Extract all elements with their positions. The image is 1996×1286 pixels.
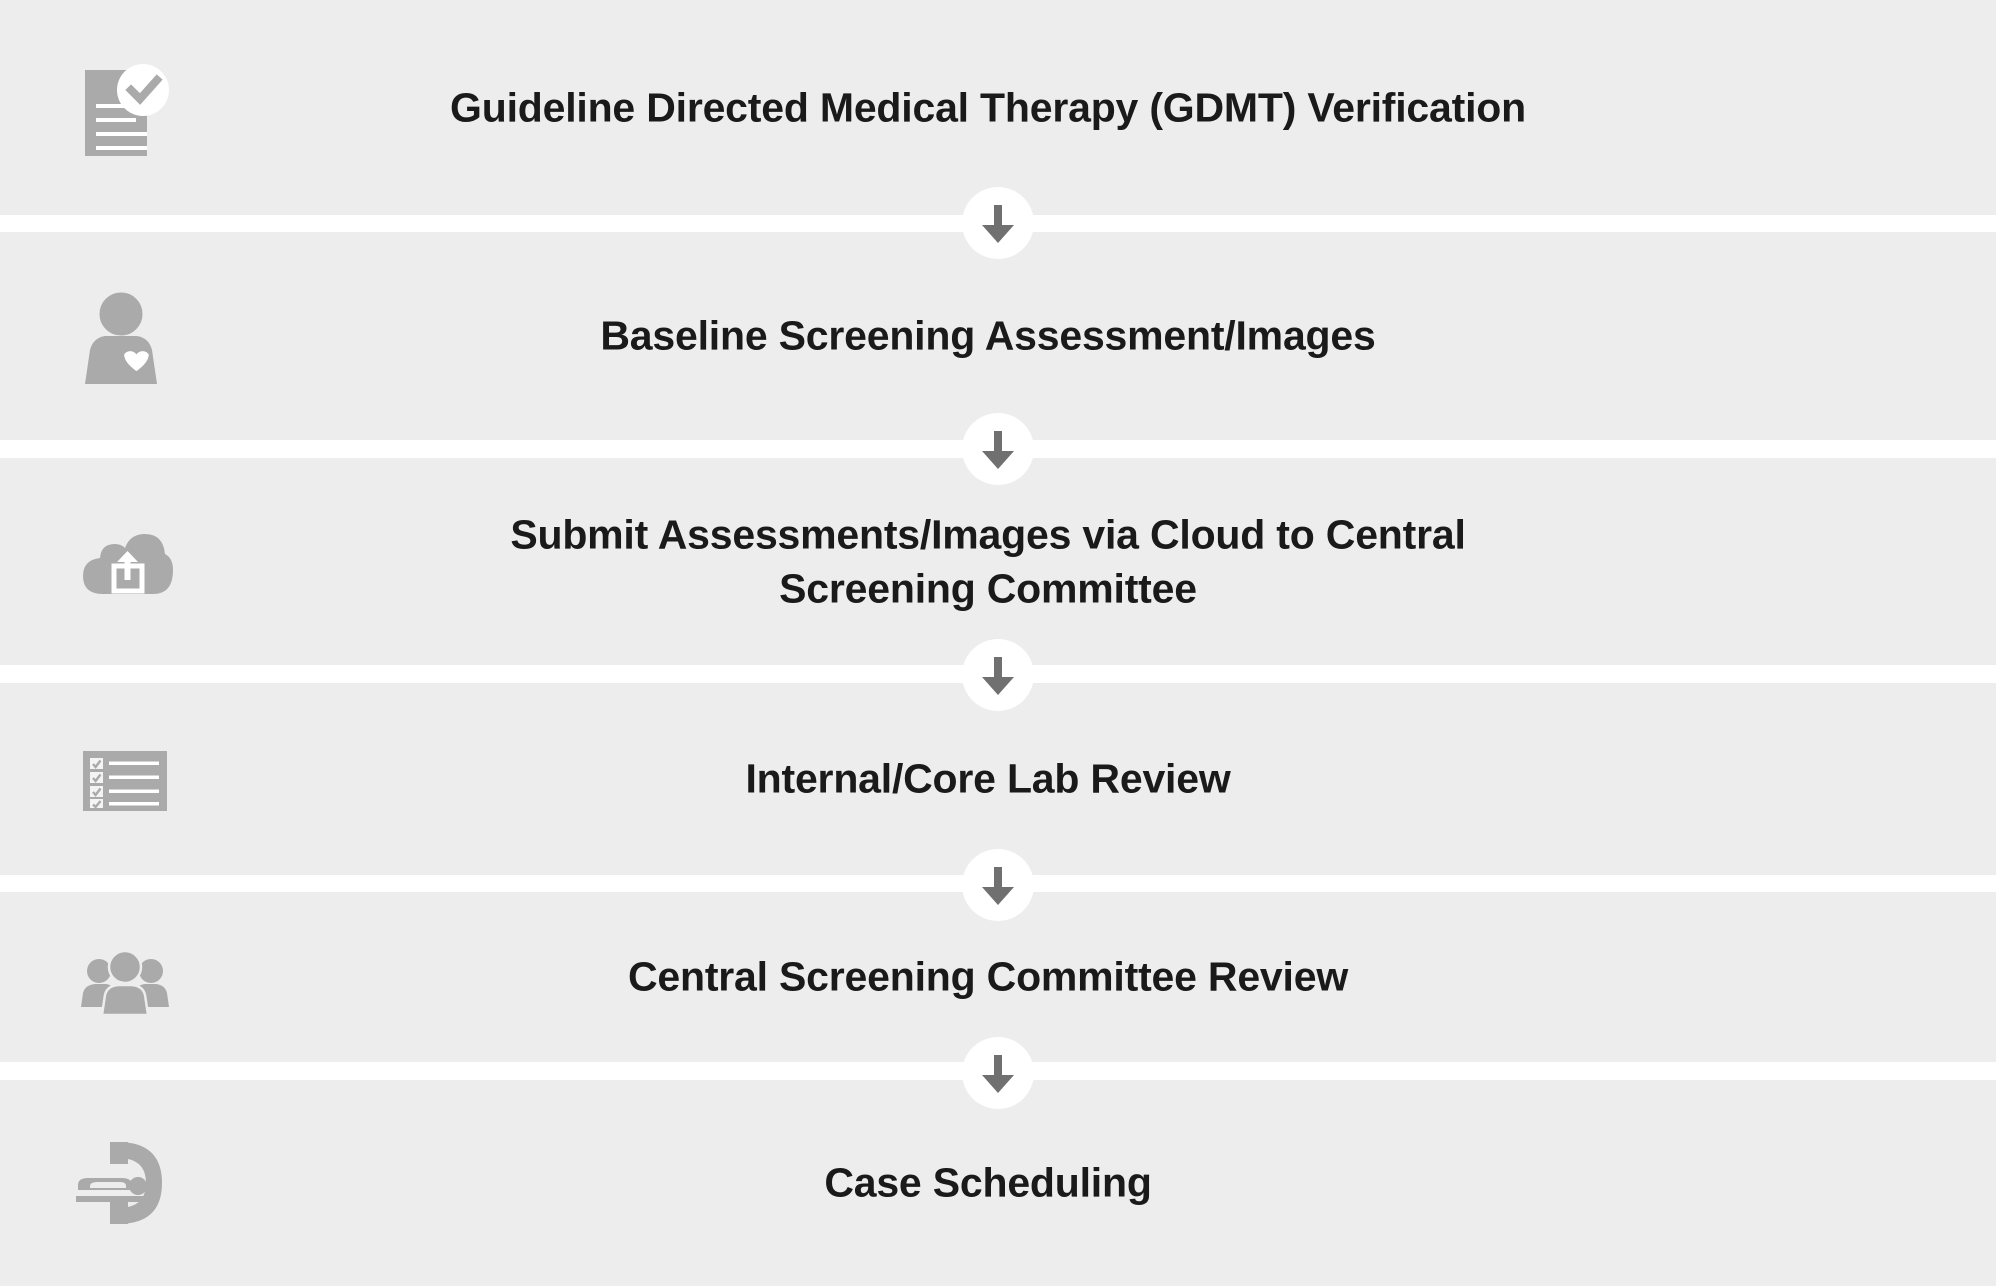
arrow-down-icon xyxy=(978,427,1018,471)
workflow-diagram: Guideline Directed Medical Therapy (GDMT… xyxy=(0,0,1996,1286)
step-label-3-line1: Submit Assessments/Images via Cloud to C… xyxy=(510,511,1465,557)
step-label-4-line1: Internal/Core Lab Review xyxy=(745,756,1230,802)
patient-heart-icon xyxy=(65,276,185,396)
connector-arrow-2 xyxy=(962,413,1034,485)
arrow-down-icon xyxy=(978,201,1018,245)
ct-scanner-icon xyxy=(65,1123,185,1243)
committee-group-icon xyxy=(65,917,185,1037)
step-row-2: Baseline Screening Assessment/Images xyxy=(0,232,1996,440)
step-row-4: Internal/Core Lab Review xyxy=(0,683,1996,875)
step-label-3: Submit Assessments/Images via Cloud to C… xyxy=(230,507,1936,616)
connector-arrow-3 xyxy=(962,639,1034,711)
arrow-down-icon xyxy=(978,1051,1018,1095)
step-label-5: Central Screening Committee Review xyxy=(230,950,1936,1005)
checklist-icon xyxy=(65,719,185,839)
arrow-down-icon xyxy=(978,863,1018,907)
arrow-down-icon xyxy=(978,653,1018,697)
step-label-2-line1: Baseline Screening Assessment/Images xyxy=(600,313,1375,359)
document-check-icon xyxy=(65,48,185,168)
step-label-6-line1: Case Scheduling xyxy=(824,1160,1151,1206)
connector-arrow-5 xyxy=(962,1037,1034,1109)
connector-arrow-4 xyxy=(962,849,1034,921)
step-label-2: Baseline Screening Assessment/Images xyxy=(230,309,1936,364)
step-label-3-line2: Screening Committee xyxy=(380,562,1596,617)
step-label-4: Internal/Core Lab Review xyxy=(230,752,1936,807)
step-row-6: Case Scheduling xyxy=(0,1080,1996,1286)
step-label-5-line1: Central Screening Committee Review xyxy=(628,954,1348,1000)
cloud-upload-icon xyxy=(65,502,185,622)
step-label-1-line1: Guideline Directed Medical Therapy (GDMT… xyxy=(450,84,1526,130)
connector-arrow-1 xyxy=(962,187,1034,259)
step-row-1: Guideline Directed Medical Therapy (GDMT… xyxy=(0,0,1996,215)
step-row-3: Submit Assessments/Images via Cloud to C… xyxy=(0,458,1996,665)
step-label-6: Case Scheduling xyxy=(230,1156,1936,1211)
step-label-1: Guideline Directed Medical Therapy (GDMT… xyxy=(230,80,1936,135)
